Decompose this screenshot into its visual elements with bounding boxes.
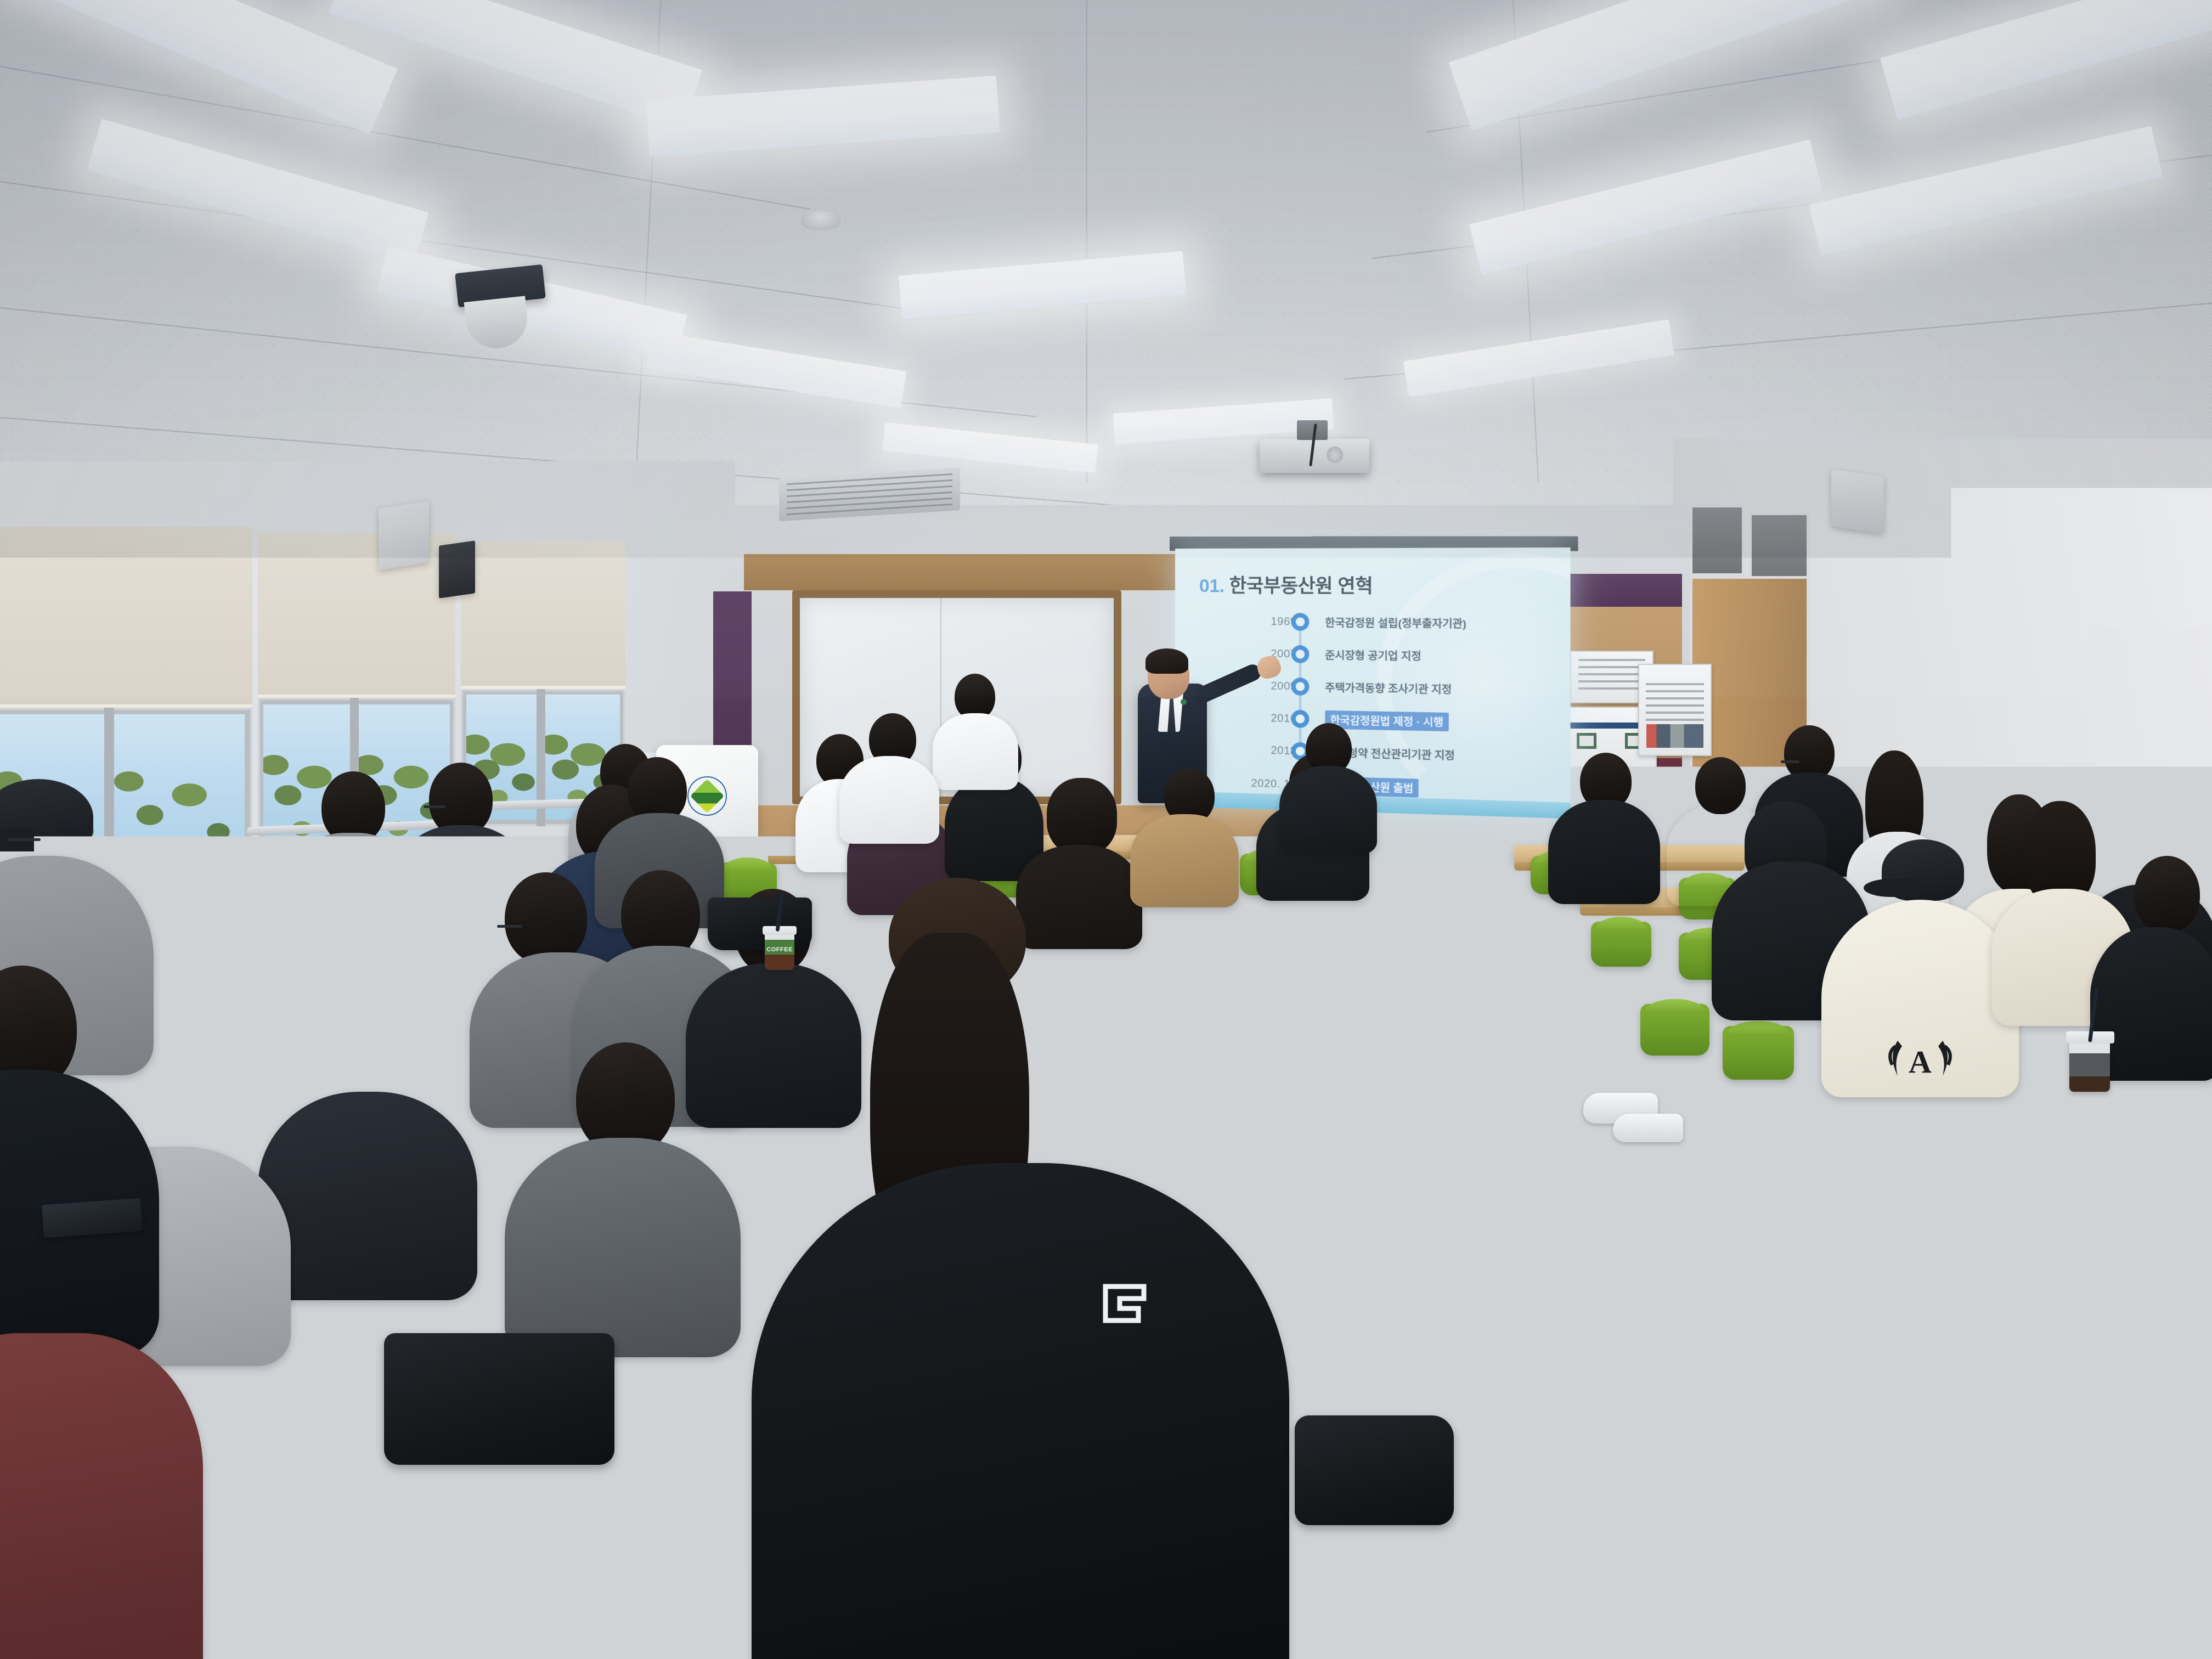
desk — [790, 982, 1339, 1011]
slide-number: 01. — [1199, 575, 1224, 596]
eyeglasses — [1781, 760, 1799, 763]
chair[interactable] — [148, 900, 208, 944]
person-torso — [258, 1092, 477, 1300]
timeline-dot-icon — [1291, 710, 1310, 728]
wall-speaker — [379, 501, 429, 571]
wall-poster-chart — [1638, 664, 1712, 756]
person-torso — [933, 713, 1018, 790]
person-torso — [0, 1333, 203, 1659]
chair[interactable] — [1591, 922, 1651, 967]
backpack — [1295, 1415, 1454, 1525]
chair[interactable] — [1212, 928, 1280, 979]
timeline-dot-icon — [1291, 645, 1310, 663]
wall-speaker — [439, 540, 475, 598]
presenter-hair — [1145, 648, 1188, 674]
chair[interactable] — [1827, 1174, 1948, 1262]
window-blind — [461, 541, 625, 689]
baseball-cap — [1882, 839, 1964, 901]
poster-bar-chart — [1646, 724, 1703, 748]
jacket-on-chair — [384, 1333, 614, 1465]
person-head — [1047, 778, 1117, 855]
poster-diagram-box — [1577, 733, 1596, 749]
backpack — [1607, 1136, 1772, 1262]
chair[interactable] — [1723, 1026, 1794, 1080]
wall-accent-purple — [1556, 574, 1682, 607]
chair[interactable] — [1640, 1004, 1709, 1056]
hoodie-logo-letter: A — [1909, 1044, 1932, 1080]
tree-foliage — [113, 714, 245, 882]
timeline-year: 1969 — [1235, 615, 1297, 628]
person-torso — [1548, 800, 1660, 904]
person-torso — [505, 1138, 741, 1357]
hoodie-laurel-logo: A — [1879, 1022, 1961, 1093]
teddy-bear-keychain — [1628, 1152, 1648, 1178]
eyeglasses — [497, 925, 522, 928]
timeline-year: 2018 — [1235, 743, 1297, 758]
poster-text-lines — [1578, 659, 1645, 690]
person-torso — [1016, 845, 1142, 949]
person-head — [2134, 856, 2200, 933]
chair[interactable] — [1207, 1117, 1296, 1183]
notebook — [42, 1198, 143, 1238]
projector-cable — [1309, 424, 1317, 466]
timeline-row: 1969 한국감정원 설립(정부출자기관) — [1175, 610, 1570, 635]
timeline-event: 주택가격동향 조사기관 지정 — [1325, 679, 1452, 696]
chair[interactable] — [1059, 1015, 1136, 1072]
window-mullion — [104, 708, 114, 889]
projector-lens-icon — [1327, 447, 1343, 463]
window-blind — [0, 527, 252, 708]
timeline-year: 2016 — [1235, 712, 1297, 725]
chair[interactable] — [1300, 932, 1367, 982]
chair[interactable] — [1273, 1019, 1350, 1077]
lecture-hall-photo: 01. 한국부동산원 연혁 1969 한국감정원 설립(정부출자기관) 2007… — [0, 0, 2212, 1659]
ceiling-grid-line — [1086, 0, 1087, 483]
iced-coffee-cup-right — [2069, 1037, 2110, 1092]
sneaker — [1613, 1114, 1683, 1142]
person-torso — [1130, 814, 1239, 907]
timeline-dot-icon — [1291, 678, 1310, 696]
cup-label: COFFEE — [765, 946, 794, 953]
ceiling-projector — [1260, 439, 1369, 473]
slide-title-text: 한국부동산원 연혁 — [1229, 575, 1373, 597]
timeline-row: 2007 준시장형 공기업 지정 — [1175, 642, 1570, 669]
person-torso-hoodie: A — [1821, 900, 2019, 1097]
door-transom-window — [1690, 505, 1745, 576]
smoke-detector-icon — [801, 211, 840, 230]
timeline-dot-icon — [1291, 613, 1310, 631]
poster-text-lines — [1646, 683, 1705, 723]
person-torso — [1279, 766, 1377, 854]
chair[interactable] — [1163, 1016, 1241, 1074]
eyeglasses — [8, 838, 41, 841]
presenter-lapel-pin — [1181, 699, 1187, 705]
eyeglasses — [424, 805, 445, 808]
window-glass — [113, 714, 245, 882]
person-head — [505, 872, 587, 964]
iced-coffee-cup-left: COFFEE — [765, 929, 794, 970]
slide-title: 01. 한국부동산원 연혁 — [1199, 571, 1373, 598]
jacket-logo-patch — [1096, 1277, 1156, 1337]
timeline-event-highlighted: 한국감정원법 제정 · 시행 — [1325, 710, 1448, 731]
person-torso — [839, 756, 939, 844]
timeline-event: 준시장형 공기업 지정 — [1325, 647, 1421, 663]
timeline-event: 한국감정원 설립(정부출자기관) — [1325, 614, 1466, 630]
desk — [1278, 905, 1443, 928]
person-torso — [686, 963, 861, 1128]
chair[interactable] — [2030, 1278, 2211, 1404]
door-transom-window — [1749, 512, 1809, 584]
chair[interactable] — [1086, 1114, 1174, 1178]
person-torso — [752, 1163, 1289, 1659]
university-logo-emblem — [690, 778, 724, 812]
bag-on-desk — [708, 898, 812, 950]
wall-speaker — [1831, 469, 1884, 533]
university-logo — [687, 776, 727, 816]
